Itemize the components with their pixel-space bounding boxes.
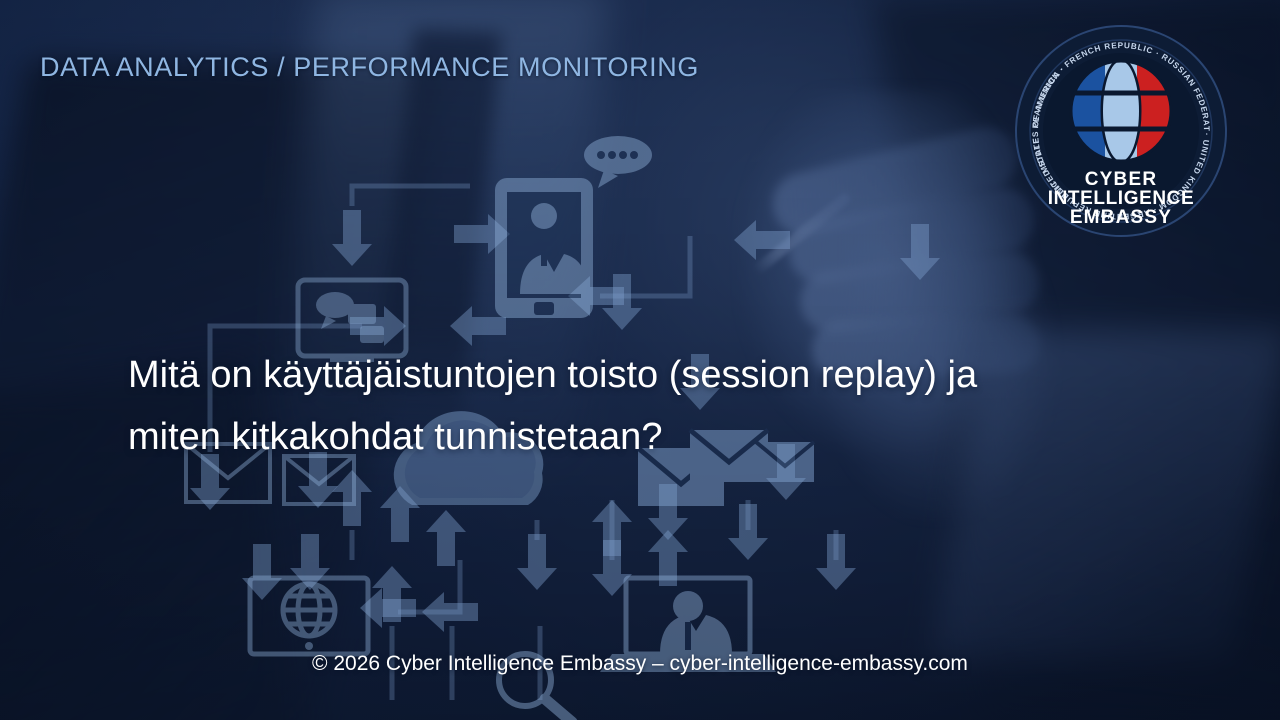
logo-badge[interactable]: EUROPEAN UNION · FRENCH REPUBLIC · RUSSI… bbox=[1013, 23, 1229, 239]
page-title-line-2: miten kitkakohdat tunnistetaan? bbox=[128, 406, 1028, 468]
slide: DATA ANALYTICS / PERFORMANCE MONITORING … bbox=[0, 0, 1280, 720]
chat-bubble-icon bbox=[584, 136, 652, 188]
page-title-line-1: Mitä on käyttäjäistuntojen toisto (sessi… bbox=[128, 344, 1028, 406]
page-title: Mitä on käyttäjäistuntojen toisto (sessi… bbox=[128, 344, 1028, 468]
page-kicker: DATA ANALYTICS / PERFORMANCE MONITORING bbox=[40, 52, 699, 83]
logo-name-line-1: CYBER bbox=[1085, 169, 1158, 190]
logo-name-line-3: EMBASSY bbox=[1070, 207, 1172, 228]
tablet-with-person-icon bbox=[495, 178, 593, 318]
logo-name-line-2: INTELLIGENCE bbox=[1048, 188, 1195, 209]
footer-copyright: © 2026 Cyber Intelligence Embassy – cybe… bbox=[0, 652, 1280, 676]
